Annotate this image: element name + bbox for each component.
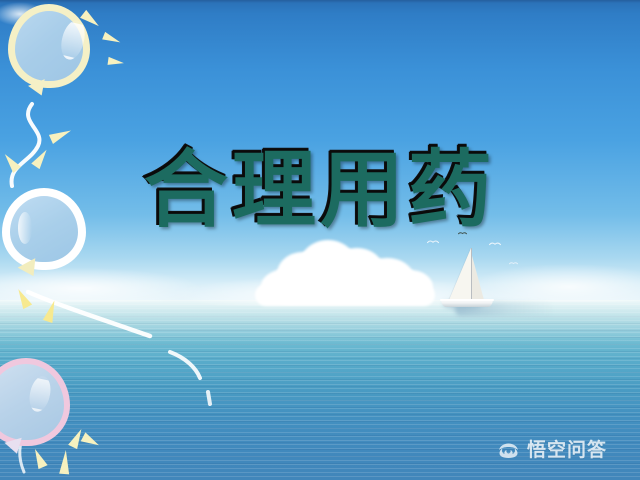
balloon-body <box>2 188 86 270</box>
bird-icon <box>489 241 500 246</box>
sailboat-jib <box>471 252 484 300</box>
bird-icon <box>509 261 518 266</box>
cumulus-cloud <box>255 238 435 304</box>
slide-canvas: 合理用药 <box>0 0 640 480</box>
sailboat-mainsail <box>449 248 471 300</box>
sailboat <box>437 248 499 310</box>
confetti-triangle <box>59 450 71 475</box>
wukong-crown-logo-icon <box>497 441 520 460</box>
sailboat-deck-line <box>440 299 494 301</box>
watermark: 悟空问答 <box>497 441 607 460</box>
sky-top-band <box>0 0 640 3</box>
sailboat-mast <box>471 248 472 301</box>
balloon-highlight <box>18 212 32 244</box>
watermark-text: 悟空问答 <box>527 441 607 460</box>
decor-balloon-mid-left <box>2 188 106 292</box>
